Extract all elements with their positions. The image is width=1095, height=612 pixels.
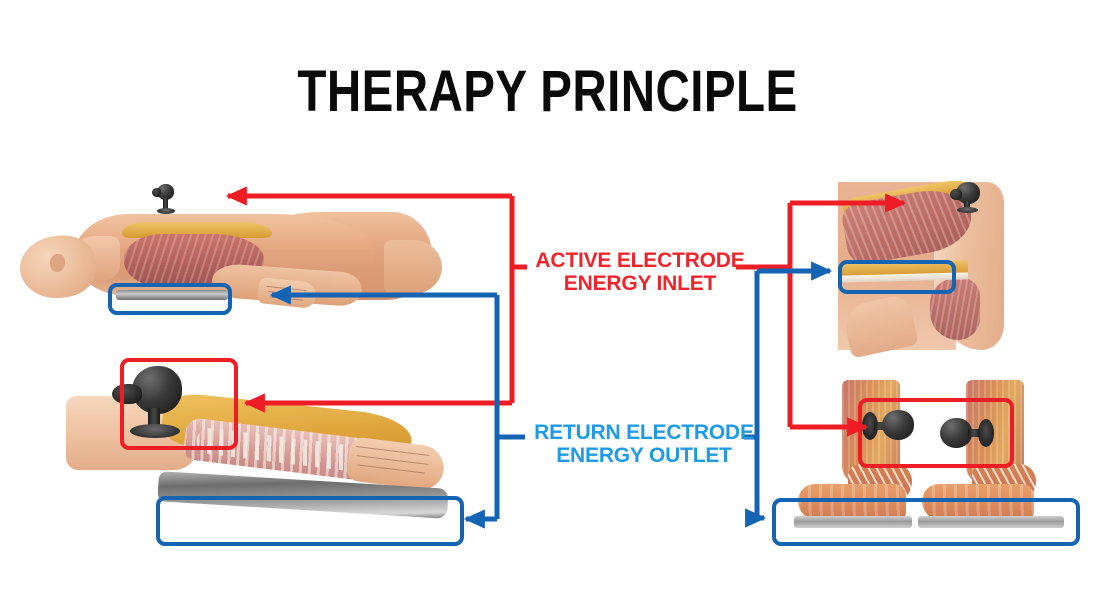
electrode-handpiece-joint[interactable] [950, 182, 984, 214]
prone-ear-illustration [50, 254, 65, 272]
page-title: THERAPY PRINCIPLE [99, 58, 997, 125]
label-return-line2: ENERGY OUTLET [528, 444, 760, 467]
highlight-return-joint [838, 260, 956, 294]
highlight-active-feet [858, 398, 1014, 468]
highlight-active-hand [120, 358, 238, 450]
label-return-line1: RETURN ELECTRODE [534, 421, 754, 444]
electrode-handpiece-back[interactable] [150, 184, 180, 216]
label-return-electrode: RETURN ELECTRODE ENERGY OUTLET [528, 421, 760, 467]
highlight-return-feet [772, 498, 1080, 546]
therapy-principle-diagram: THERAPY PRINCIPLE [0, 0, 1095, 612]
prone-leg-illustration [384, 240, 442, 294]
highlight-return-prone [108, 283, 232, 315]
label-active-electrode: ACTIVE ELECTRODE ENERGY INLET [530, 249, 750, 295]
label-active-line1: ACTIVE ELECTRODE [535, 249, 744, 272]
highlight-return-hand [156, 496, 464, 546]
label-active-line2: ENERGY INLET [530, 272, 750, 295]
